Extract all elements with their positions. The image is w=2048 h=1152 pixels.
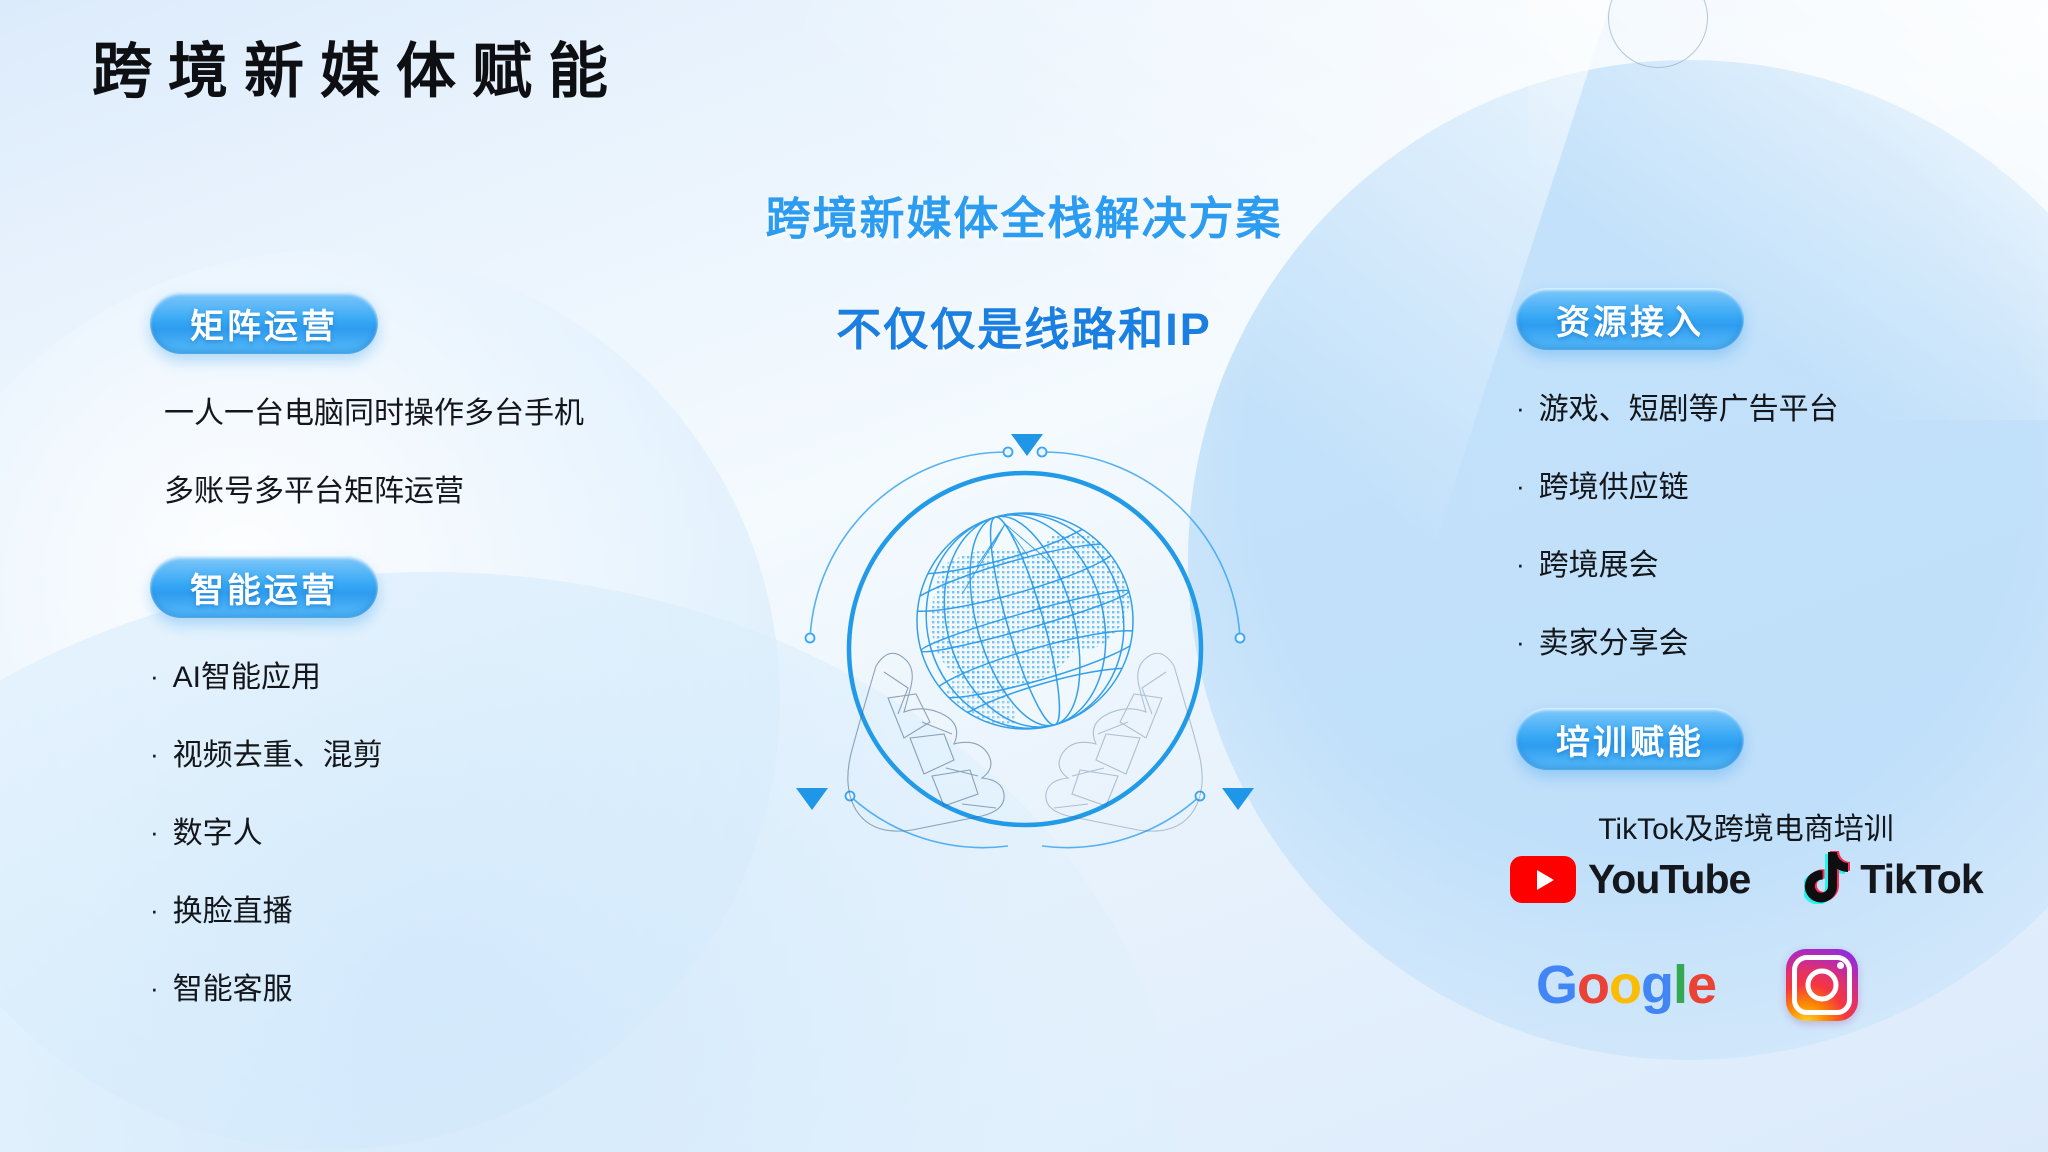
resource-access-list: · 游戏、短剧等广告平台 · 跨境供应链 · 跨境展会 · 卖家分享会 xyxy=(1516,384,2036,662)
right-column-spacer xyxy=(1516,662,2036,708)
headline-primary: 跨境新媒体全栈解决方案 xyxy=(624,182,1424,247)
list-item-label: AI智能应用 xyxy=(173,652,321,696)
youtube-play-icon xyxy=(1510,856,1576,903)
bullet-dot-icon: · xyxy=(1516,629,1525,655)
training-line-1: TikTok及跨境电商培训 xyxy=(1516,804,1976,848)
instagram-flash-dot-icon xyxy=(1837,962,1844,969)
list-item: · 数字人 xyxy=(150,808,770,852)
google-letter-g1: G xyxy=(1536,958,1577,1012)
bullet-dot-icon: · xyxy=(1516,473,1525,499)
list-item-label: 智能客服 xyxy=(173,964,293,1008)
pill-training-empowerment[interactable]: 培训赋能 xyxy=(1516,708,1744,770)
bullet-dot-icon: · xyxy=(150,819,159,845)
google-letter-l: l xyxy=(1673,958,1687,1012)
section-smart-operations: 智能运营 · AI智能应用 · 视频去重、混剪 · 数字人 · 换脸直播 xyxy=(150,556,770,1008)
google-letter-e: e xyxy=(1687,958,1716,1012)
list-item: · 卖家分享会 xyxy=(1516,618,2036,662)
youtube-logo: YouTube xyxy=(1510,856,1750,903)
list-item: · 跨境展会 xyxy=(1516,540,2036,584)
list-item: · 换脸直播 xyxy=(150,886,770,930)
instagram-logo xyxy=(1786,949,1858,1021)
play-triangle-icon xyxy=(1537,870,1554,890)
bullet-dot-icon: · xyxy=(150,741,159,767)
logo-row-bottom: G o o g l e xyxy=(1510,949,2030,1021)
pill-resource-access[interactable]: 资源接入 xyxy=(1516,288,1744,350)
list-item: · 游戏、短剧等广告平台 xyxy=(1516,384,2036,428)
left-column: 矩阵运营 一人一台电脑同时操作多台手机 多账号多平台矩阵运营 智能运营 · AI… xyxy=(150,292,770,1008)
tiktok-logo: TikTok xyxy=(1804,850,1982,909)
slide-root: 跨境新媒体赋能 跨境新媒体全栈解决方案 不仅仅是线路和IP xyxy=(0,0,2048,1152)
platform-logo-grid: YouTube TikTok G o o g l e xyxy=(1510,850,2030,1021)
google-letter-g2: g xyxy=(1641,958,1673,1012)
tiktok-wordmark: TikTok xyxy=(1860,856,1982,903)
page-title: 跨境新媒体赋能 xyxy=(92,42,624,102)
list-item: · 跨境供应链 xyxy=(1516,462,2036,506)
list-item-label: 视频去重、混剪 xyxy=(173,730,383,774)
tiktok-note-icon xyxy=(1804,850,1850,909)
list-item-label: 换脸直播 xyxy=(173,886,293,930)
instagram-lens-icon xyxy=(1806,969,1839,1002)
list-item-label: 卖家分享会 xyxy=(1539,618,1689,662)
pill-matrix-operations[interactable]: 矩阵运营 xyxy=(150,292,378,354)
bullet-dot-icon: · xyxy=(150,975,159,1001)
logo-row-top: YouTube TikTok xyxy=(1510,850,2030,909)
globe-in-hands-illustration xyxy=(792,416,1258,882)
matrix-ops-line-2: 多账号多平台矩阵运营 xyxy=(164,466,770,510)
smart-operations-list: · AI智能应用 · 视频去重、混剪 · 数字人 · 换脸直播 · 智能客服 xyxy=(150,652,770,1008)
google-logo: G o o g l e xyxy=(1536,958,1716,1012)
youtube-wordmark: YouTube xyxy=(1588,856,1750,903)
pill-smart-operations[interactable]: 智能运营 xyxy=(150,556,378,618)
instagram-camera-icon xyxy=(1792,955,1852,1015)
left-column-spacer xyxy=(150,510,770,556)
list-item-label: 跨境供应链 xyxy=(1539,462,1689,506)
google-letter-o2: o xyxy=(1609,958,1641,1012)
section-training-empowerment: 培训赋能 TikTok及跨境电商培训 xyxy=(1516,708,2036,848)
list-item: · AI智能应用 xyxy=(150,652,770,696)
matrix-ops-line-1: 一人一台电脑同时操作多台手机 xyxy=(164,388,770,432)
right-column: 资源接入 · 游戏、短剧等广告平台 · 跨境供应链 · 跨境展会 · 卖家分享会 xyxy=(1516,288,2036,848)
list-item-label: 数字人 xyxy=(173,808,263,852)
bullet-dot-icon: · xyxy=(150,897,159,923)
list-item-label: 游戏、短剧等广告平台 xyxy=(1539,384,1839,428)
google-letter-o1: o xyxy=(1577,958,1609,1012)
list-item: · 视频去重、混剪 xyxy=(150,730,770,774)
section-matrix-operations: 矩阵运营 一人一台电脑同时操作多台手机 多账号多平台矩阵运营 xyxy=(150,292,770,510)
bullet-dot-icon: · xyxy=(1516,395,1525,421)
bullet-dot-icon: · xyxy=(1516,551,1525,577)
section-resource-access: 资源接入 · 游戏、短剧等广告平台 · 跨境供应链 · 跨境展会 · 卖家分享会 xyxy=(1516,288,2036,662)
bullet-dot-icon: · xyxy=(150,663,159,689)
list-item: · 智能客服 xyxy=(150,964,770,1008)
list-item-label: 跨境展会 xyxy=(1539,540,1659,584)
